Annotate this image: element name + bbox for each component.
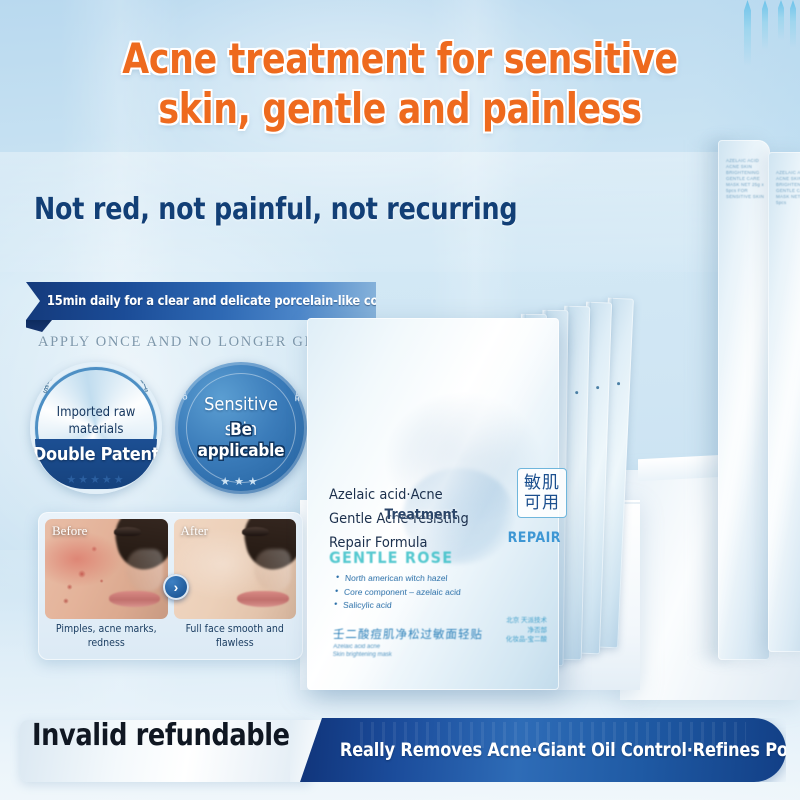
claims-banner: Really Removes Acne·Giant Oil Control·Re… xyxy=(300,718,786,782)
benefit-ribbon: 15min daily for a clear and delicate por… xyxy=(26,282,376,320)
package-latin-subtitle: Azelaic acid acne Skin brightening mask xyxy=(332,643,392,659)
box-sheen xyxy=(718,140,770,660)
badge-stars-icon: ★★★★★ xyxy=(30,473,162,486)
package-bullet: Core component – azelaic acid xyxy=(335,586,516,600)
packet-notch xyxy=(596,387,599,390)
product-package-front: Azelaic acid·Acne Gentle Acne-resisting … xyxy=(307,318,559,690)
package-overlay-word: Treatment xyxy=(341,507,501,523)
nose-shape xyxy=(126,549,163,591)
package-latin-line-2: Skin brightening mask xyxy=(333,652,392,658)
product-box-right-1: AZELAIC ACID ACNE SKIN BRIGHTENING GENTL… xyxy=(718,140,770,660)
before-after-captions: Pimples, acne marks, redness Full face s… xyxy=(45,622,296,650)
claims-banner-text: Really Removes Acne·Giant Oil Control·Re… xyxy=(300,739,800,761)
page-title: Acne treatment for sensitive skin, gentl… xyxy=(32,34,768,134)
advertisement-canvas: AZELAIC ACID ACNE SKIN BRIGHTENING GENTL… xyxy=(0,0,800,800)
package-title-line-1: Azelaic acid·Acne xyxy=(329,483,511,507)
badge-line-3: Be applicable xyxy=(175,420,307,462)
badge-headline: Double Patent xyxy=(30,444,162,465)
headline-line-1: Acne treatment for sensitive xyxy=(122,34,678,83)
nose-shape xyxy=(254,549,291,591)
refund-text: Invalid refundable xyxy=(32,718,290,753)
package-chinese-name: 壬二酸痘肌净松过敏面轻贴 xyxy=(332,626,483,642)
product-box-right-1-text: AZELAIC ACID ACNE SKIN BRIGHTENING GENTL… xyxy=(726,158,766,200)
package-bullet: Salicylic acid xyxy=(334,599,515,613)
badge-mid-line-2: materials xyxy=(69,422,124,437)
before-photo: Before xyxy=(45,519,168,619)
after-caption: Full face smooth and flawless xyxy=(174,622,297,650)
package-ingredient-list: North american witch hazel Core componen… xyxy=(334,572,517,613)
arc-char: s xyxy=(143,386,149,396)
eye-shape xyxy=(114,527,141,536)
before-after-photos: Before After xyxy=(45,519,296,619)
package-right-info-line-2: 净否部 xyxy=(528,627,548,634)
eye-shape xyxy=(242,527,269,536)
package-chinese-badge: 敏肌 可用 xyxy=(517,468,567,518)
before-after-card: Before After › Pimples, acne marks, redn… xyxy=(38,512,303,660)
chevron-right-icon: › xyxy=(163,574,189,600)
lip-shape xyxy=(109,591,160,607)
package-repair-label: REPAIR xyxy=(508,530,561,546)
product-box-right-2-text: AZELAIC ACID ACNE SKIN BRIGHTENING GENTL… xyxy=(776,170,800,206)
badge-sensitive-skin: OIL SKIN DRY SKIN CAN BE TRIED WITH Sens… xyxy=(175,362,307,494)
lip-shape xyxy=(237,591,288,607)
subheading: Not red, not painful, not recurring xyxy=(34,193,517,227)
package-right-info-line-1: 北京 天派技术 xyxy=(506,617,547,624)
badge-mid-line-1: Imported raw xyxy=(57,405,136,420)
package-right-info-line-3: 化妆品-宝二酸 xyxy=(506,636,547,643)
badge-line-4-text: applicable xyxy=(198,441,285,461)
packet-notch xyxy=(617,382,620,385)
headline-line-2: skin, gentle and painless xyxy=(32,84,768,134)
package-chinese-badge-line-2: 可用 xyxy=(524,493,560,512)
package-latin-line-1: Azelaic acid acne xyxy=(333,644,380,650)
before-caption: Pimples, acne marks, redness xyxy=(45,622,168,650)
after-label: After xyxy=(181,523,208,539)
product-box-right-2: AZELAIC ACID ACNE SKIN BRIGHTENING GENTL… xyxy=(768,152,800,652)
decorative-spike-icon xyxy=(778,0,784,40)
benefit-ribbon-text: 15min daily for a clear and delicate por… xyxy=(26,293,436,309)
package-chinese-badge-line-1: 敏肌 xyxy=(524,473,560,492)
badge-stars-icon: ★★★ xyxy=(175,475,307,488)
decorative-spike-icon xyxy=(790,0,796,48)
after-photo: After xyxy=(174,519,297,619)
badge-line-1-text: Sensitive xyxy=(204,394,278,415)
package-bullet: North american witch hazel xyxy=(335,572,516,586)
box-sheen xyxy=(768,152,800,652)
badge-double-patent: Select essence of raw materials Imported… xyxy=(30,362,162,494)
badge-line-3-text: Be xyxy=(230,420,252,440)
package-brand: GENTLE ROSE xyxy=(329,548,453,567)
before-label: Before xyxy=(52,523,87,539)
badge-mid-text: Imported raw materials xyxy=(30,404,162,438)
packet-notch xyxy=(575,391,578,394)
package-right-info: 北京 天派技术 净否部 化妆品-宝二酸 xyxy=(506,616,547,645)
